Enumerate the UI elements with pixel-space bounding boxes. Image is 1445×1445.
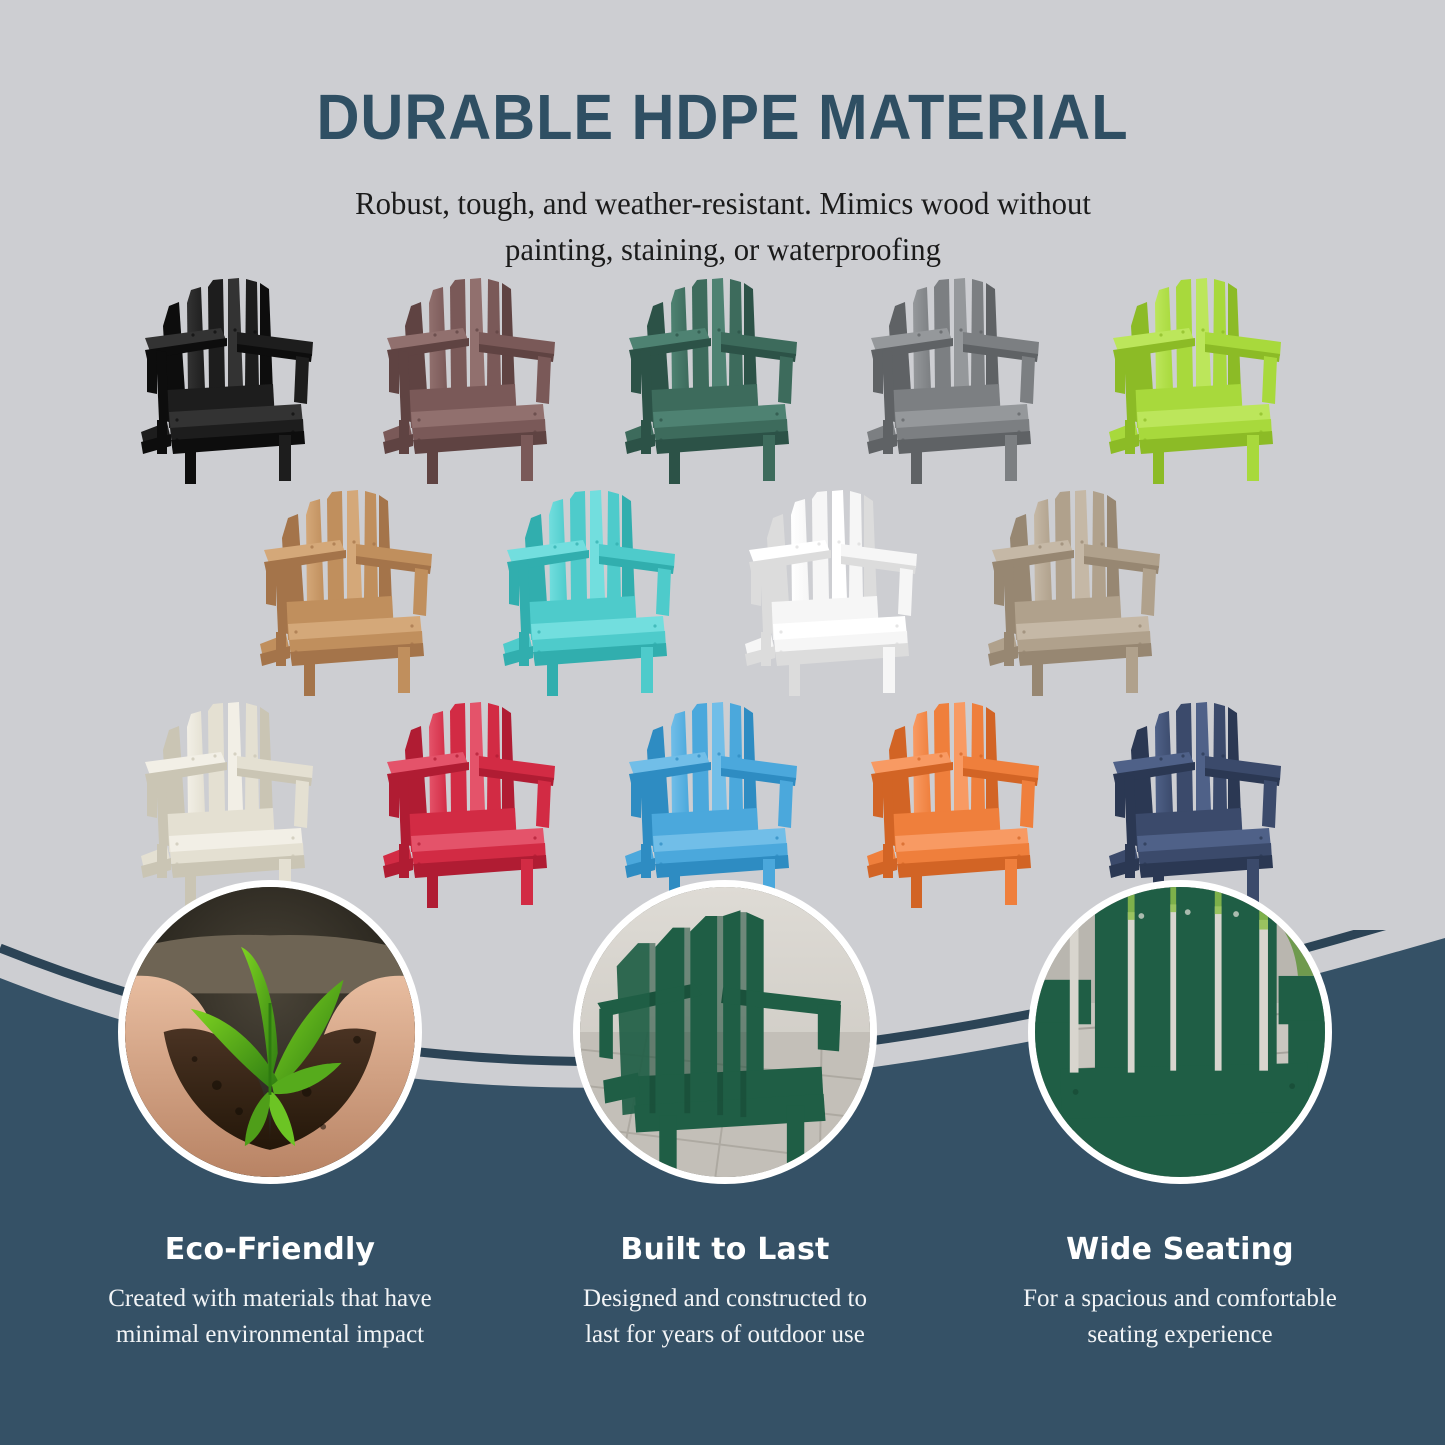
chair-swatch-brown[interactable] [375, 272, 587, 484]
feature-desc-line-2: seating experience [978, 1317, 1382, 1353]
chair-row-3 [133, 696, 1313, 908]
chair-svg [1101, 696, 1313, 908]
page-title: DURABLE HDPE MATERIAL [51, 80, 1395, 154]
feature-description: Created with materials that have minimal… [60, 1281, 480, 1352]
feature-desc-line-1: Designed and constructed to [523, 1281, 927, 1317]
feature-built-to-last: Built to Last Designed and constructed t… [515, 880, 935, 1352]
chair-swatch-driftwood[interactable] [980, 484, 1192, 696]
chair-svg [617, 272, 829, 484]
subtitle-line-1: Robust, tough, and weather-resistant. Mi… [247, 180, 1197, 226]
header: DURABLE HDPE MATERIAL Robust, tough, and… [0, 0, 1445, 273]
chair-svg [859, 272, 1071, 484]
chair-svg [617, 696, 829, 908]
chair-row-1 [133, 272, 1313, 484]
chair-swatch-light-blue[interactable] [617, 696, 829, 908]
feature-description: Designed and constructed to last for yea… [515, 1281, 935, 1352]
chair-swatch-orange[interactable] [859, 696, 1071, 908]
chair-swatch-navy[interactable] [1101, 696, 1313, 908]
feature-description: For a spacious and comfortable seating e… [970, 1281, 1390, 1352]
features-section: Eco-Friendly Created with materials that… [0, 880, 1445, 1445]
feature-desc-line-1: For a spacious and comfortable [978, 1281, 1382, 1317]
chair-svg [252, 484, 464, 696]
feature-desc-line-1: Created with materials that have [68, 1281, 472, 1317]
feature-desc-line-2: last for years of outdoor use [523, 1317, 927, 1353]
feature-title: Built to Last [515, 1232, 935, 1267]
feature-wide-seating: Wide Seating For a spacious and comforta… [970, 880, 1390, 1352]
infographic-canvas: DURABLE HDPE MATERIAL Robust, tough, and… [0, 0, 1445, 1445]
chair-svg [737, 484, 949, 696]
green-chair-wide-seat-closeup-photo [1028, 880, 1332, 1184]
chair-svg [495, 484, 707, 696]
chair-swatch-red[interactable] [375, 696, 587, 908]
chair-swatch-gray[interactable] [859, 272, 1071, 484]
chair-swatch-ivory[interactable] [133, 696, 345, 908]
chair-swatch-white[interactable] [737, 484, 949, 696]
feature-title: Wide Seating [970, 1232, 1390, 1267]
chair-swatch-dark-green[interactable] [617, 272, 829, 484]
chair-swatch-black[interactable] [133, 272, 345, 484]
chair-svg [375, 696, 587, 908]
chair-swatch-lime-green[interactable] [1101, 272, 1313, 484]
hands-holding-seedling-photo [118, 880, 422, 1184]
chair-color-grid [0, 272, 1445, 908]
chair-swatch-turquoise[interactable] [495, 484, 707, 696]
chair-svg [375, 272, 587, 484]
feature-desc-line-2: minimal environmental impact [68, 1317, 472, 1353]
chair-svg [980, 484, 1192, 696]
page-subtitle: Robust, tough, and weather-resistant. Mi… [247, 180, 1197, 273]
chair-svg [133, 272, 345, 484]
chair-svg [859, 696, 1071, 908]
chair-swatch-teak[interactable] [252, 484, 464, 696]
feature-eco-friendly: Eco-Friendly Created with materials that… [60, 880, 480, 1352]
subtitle-line-2: painting, staining, or waterproofing [247, 226, 1197, 272]
chair-row-2 [252, 484, 1192, 696]
green-adirondack-chair-on-patio-photo [573, 880, 877, 1184]
chair-svg [1101, 272, 1313, 484]
chair-svg [133, 696, 345, 908]
feature-title: Eco-Friendly [60, 1232, 480, 1267]
